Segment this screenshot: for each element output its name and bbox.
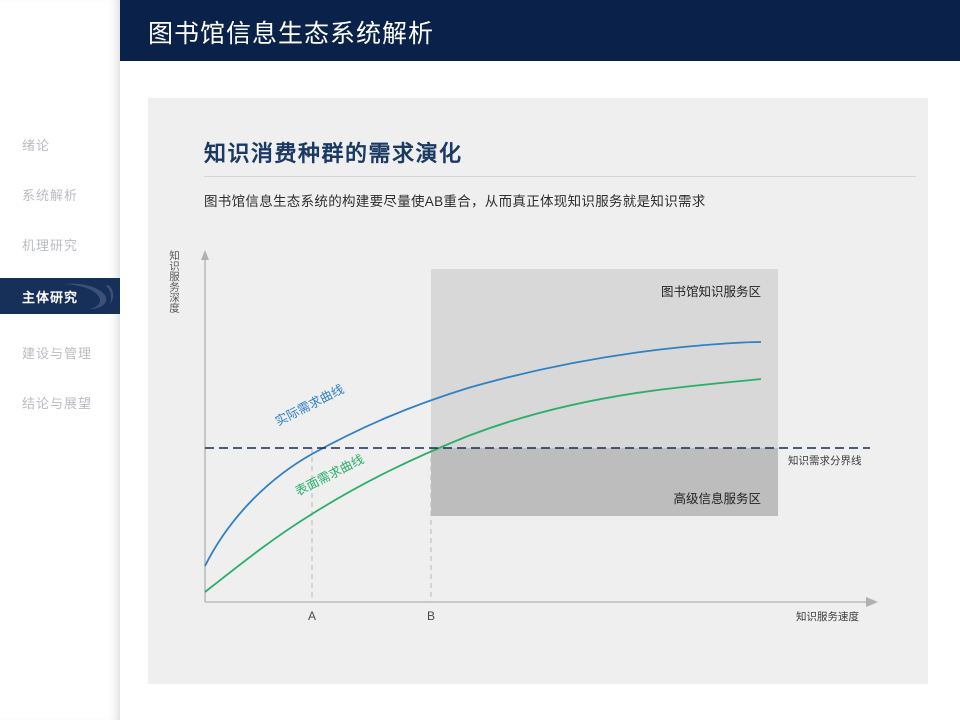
page-title: 图书馆信息生态系统解析 xyxy=(148,14,434,50)
x-axis-arrow-icon xyxy=(866,597,878,607)
sidebar-item-5[interactable]: 结论与展望 xyxy=(0,384,120,420)
sidebar-item-label: 建设与管理 xyxy=(22,343,92,362)
sidebar-item-3[interactable]: 主体研究 xyxy=(0,278,120,314)
slide-subheading: 图书馆信息生态系统的构建要尽量使AB重合，从而真正体现知识服务就是知识需求 xyxy=(204,190,706,210)
tick-label-a: A xyxy=(308,609,316,623)
title-divider xyxy=(204,176,916,177)
sidebar-item-1[interactable]: 系统解析 xyxy=(0,176,120,212)
curve-label-actual-demand: 实际需求曲线 xyxy=(273,381,347,429)
sidebar: 绪论 系统解析 机理研究 主体研究 建设与管理 结论与展望 xyxy=(0,0,120,720)
region-label-library: 图书馆知识服务区 xyxy=(661,284,761,299)
sidebar-item-0[interactable]: 绪论 xyxy=(0,126,120,162)
y-axis-arrow-icon xyxy=(201,250,209,260)
threshold-line-label: 知识需求分界线 xyxy=(788,454,862,467)
sidebar-item-2[interactable]: 机理研究 xyxy=(0,226,120,262)
sidebar-item-label: 主体研究 xyxy=(22,287,78,306)
tick-label-b: B xyxy=(427,609,435,623)
sidebar-item-label: 系统解析 xyxy=(22,185,78,204)
region-label-advanced: 高级信息服务区 xyxy=(673,491,761,506)
sidebar-item-label: 机理研究 xyxy=(22,235,78,254)
slide-heading: 知识消费种群的需求演化 xyxy=(204,136,463,168)
demand-evolution-chart: 知识服务深度 知识服务速度 A B 知识需求分界线 图书馆知识服务区 高级信息服… xyxy=(148,248,928,668)
slide-card: 知识消费种群的需求演化 图书馆信息生态系统的构建要尽量使AB重合，从而真正体现知… xyxy=(148,98,928,684)
x-axis-label: 知识服务速度 xyxy=(796,610,859,623)
y-axis-label: 知识服务深度 xyxy=(168,250,179,313)
sidebar-item-label: 绪论 xyxy=(22,135,50,154)
sidebar-item-4[interactable]: 建设与管理 xyxy=(0,334,120,370)
sidebar-item-label: 结论与展望 xyxy=(22,393,92,412)
